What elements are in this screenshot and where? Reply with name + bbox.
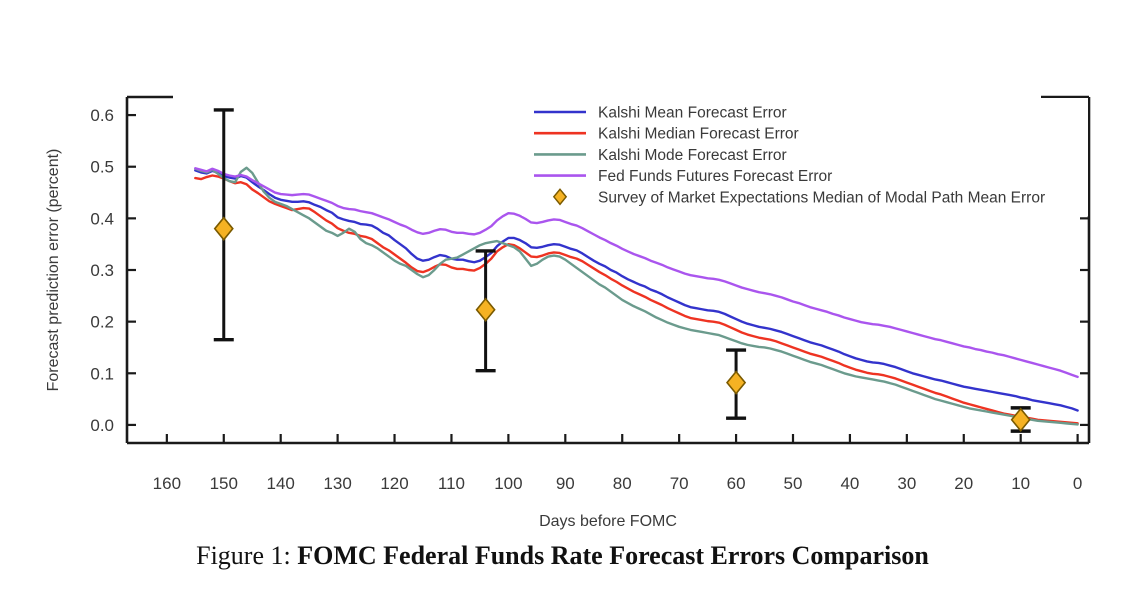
y-tick-label: 0.0 <box>90 416 114 435</box>
x-tick-label: 120 <box>380 474 408 493</box>
sme-diamond-marker <box>727 372 745 394</box>
caption-title: FOMC Federal Funds Rate Forecast Errors … <box>297 541 929 570</box>
legend-label: Survey of Market Expectations Median of … <box>598 189 1045 206</box>
x-tick-label: 160 <box>153 474 181 493</box>
legend-label: Kalshi Mode Forecast Error <box>598 147 787 164</box>
sme-diamond-marker <box>1012 409 1030 431</box>
figure-container: 0.00.10.20.30.40.50.61601501401301201101… <box>0 0 1125 599</box>
y-tick-label: 0.4 <box>90 209 114 228</box>
sme-diamond-marker <box>477 299 495 321</box>
x-tick-label: 40 <box>840 474 859 493</box>
x-tick-label: 140 <box>267 474 295 493</box>
x-tick-label: 20 <box>954 474 973 493</box>
x-tick-label: 50 <box>784 474 803 493</box>
caption-number: Figure 1: <box>196 541 291 570</box>
x-tick-label: 130 <box>323 474 351 493</box>
y-axis-title: Forecast prediction error (percent) <box>45 149 62 392</box>
legend-label: Kalshi Median Forecast Error <box>598 126 799 143</box>
y-tick-label: 0.5 <box>90 158 114 177</box>
x-tick-label: 60 <box>727 474 746 493</box>
legend-label: Fed Funds Futures Forecast Error <box>598 168 832 185</box>
legend-label: Kalshi Mean Forecast Error <box>598 105 787 122</box>
error-point-3 <box>1011 408 1031 431</box>
x-tick-label: 110 <box>438 474 465 493</box>
error-point-2 <box>726 350 746 418</box>
figure-caption: Figure 1: FOMC Federal Funds Rate Foreca… <box>0 541 1125 571</box>
x-axis-title: Days before FOMC <box>539 513 677 530</box>
x-tick-label: 70 <box>670 474 689 493</box>
legend-entry-4: Survey of Market Expectations Median of … <box>554 189 1045 206</box>
x-tick-label: 150 <box>210 474 238 493</box>
x-tick-label: 80 <box>613 474 632 493</box>
x-tick-label: 90 <box>556 474 575 493</box>
y-tick-label: 0.3 <box>90 261 114 280</box>
y-tick-label: 0.2 <box>90 313 114 332</box>
y-tick-label: 0.1 <box>90 364 114 383</box>
x-tick-label: 0 <box>1073 474 1082 493</box>
x-tick-label: 10 <box>1011 474 1030 493</box>
x-tick-label: 100 <box>494 474 522 493</box>
sme-diamond-marker <box>215 218 233 240</box>
y-tick-label: 0.6 <box>90 106 114 125</box>
error-point-0 <box>214 110 234 340</box>
chart-plot: 0.00.10.20.30.40.50.61601501401301201101… <box>0 0 1125 541</box>
x-tick-label: 30 <box>897 474 916 493</box>
